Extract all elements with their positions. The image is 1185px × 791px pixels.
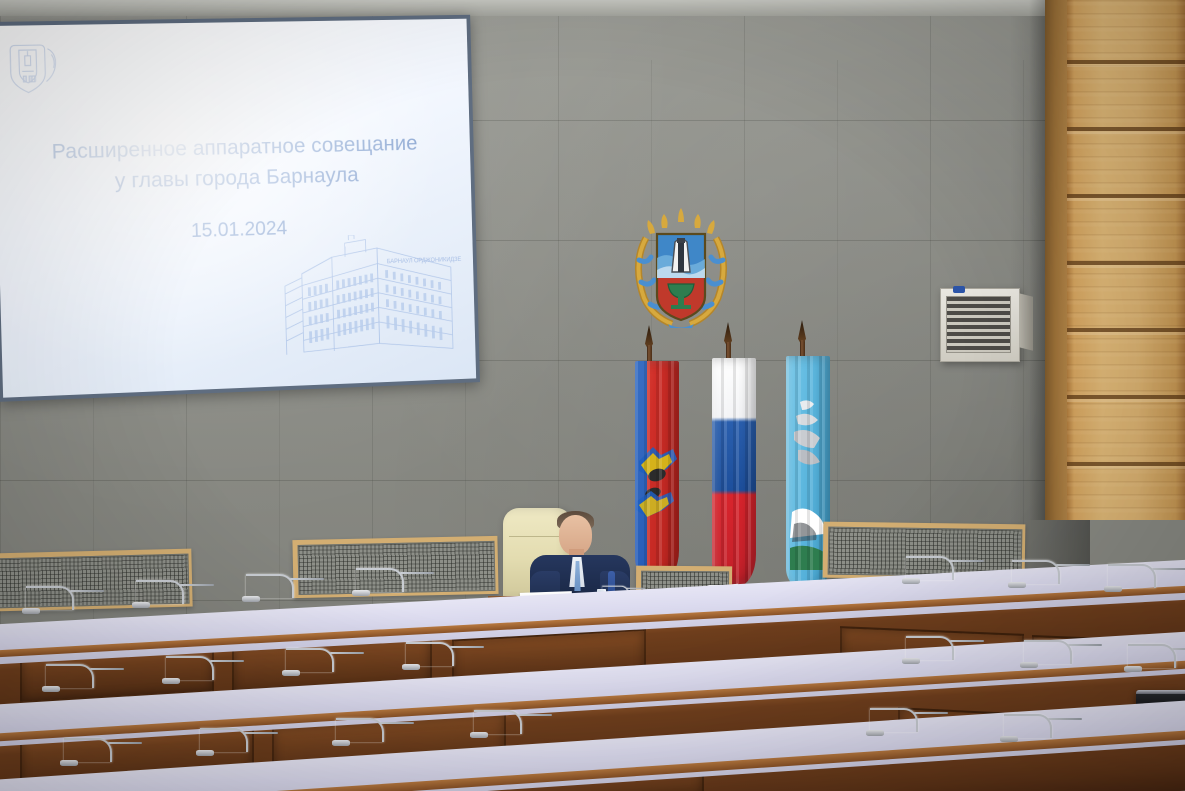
wall-air-heater [940, 288, 1020, 362]
barnaul-coat-of-arms-watermark [3, 39, 62, 102]
flag-barnaul [778, 340, 826, 608]
projection-screen: Расширенное аппаратное совещание у главы… [0, 15, 480, 402]
flag-cloth-russia [712, 358, 756, 586]
wood-column-edge [1045, 0, 1067, 520]
heater-side-duct [1019, 293, 1033, 350]
ceiling-edge [0, 0, 1090, 16]
heater-indicator [953, 286, 965, 293]
barnaul-administration-building-line-drawing: БАРНАУЛ ОРДЖОНИКИДЗЕ [274, 232, 466, 365]
oak-wall-panel-column [1067, 0, 1185, 520]
wood-slat-grooves [1067, 0, 1185, 520]
flag-folds [712, 358, 756, 586]
slide-title: Расширенное аппаратное совещание у главы… [0, 127, 471, 200]
heater-louvers [946, 296, 1011, 353]
altai-krai-coat-of-arms [628, 198, 734, 328]
slide-surface: Расширенное аппаратное совещание у главы… [0, 19, 476, 398]
flag-russia [704, 342, 752, 604]
building-signage-text: БАРНАУЛ ОРДЖОНИКИДЗЕ [387, 257, 462, 265]
conference-hall-photo: Расширенное аппаратное совещание у главы… [0, 0, 1185, 791]
flag-folds [635, 361, 679, 581]
flag-cloth-altai [635, 361, 679, 581]
flag-altai-krai [625, 345, 673, 600]
wood-column-shadow [1029, 0, 1045, 520]
